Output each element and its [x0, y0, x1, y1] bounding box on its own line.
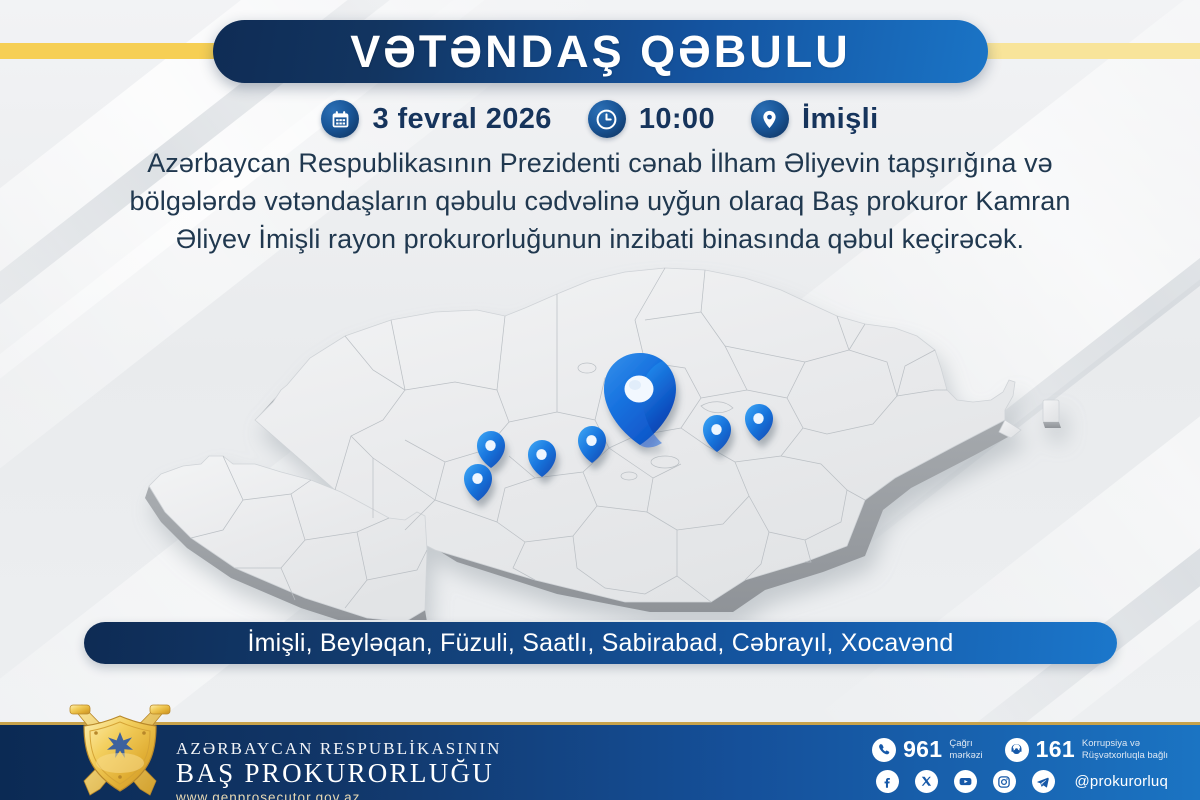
event-info-row: 3 fevral 2026 10:00 İmişli	[0, 100, 1200, 138]
facebook-icon[interactable]	[876, 770, 899, 793]
event-date: 3 fevral 2026	[321, 100, 551, 138]
page-title: VƏTƏNDAŞ QƏBULU	[350, 26, 851, 78]
poster-canvas: VƏTƏNDAŞ QƏBULU 3 fevral 2026	[0, 0, 1200, 800]
anticorruption-contact[interactable]: 161 Korrupsiya və Rüşvətxorluqla bağlı	[1005, 736, 1168, 763]
accent-bar-right	[968, 43, 1200, 59]
location-pin-icon	[751, 100, 789, 138]
event-location-value: İmişli	[802, 103, 879, 136]
calendar-icon	[321, 100, 359, 138]
phone-icon	[872, 738, 896, 762]
call-center-number: 961	[903, 736, 942, 763]
social-links-row: @prokurorluq	[876, 770, 1169, 793]
event-time-value: 10:00	[639, 103, 715, 136]
social-handle[interactable]: @prokurorluq	[1075, 773, 1169, 790]
call-center-contact[interactable]: 961 Çağrı mərkəzi	[872, 736, 983, 763]
youtube-icon[interactable]	[954, 770, 977, 793]
prosecutor-general-emblem	[58, 703, 182, 800]
instagram-icon[interactable]	[993, 770, 1016, 793]
org-website-url[interactable]: www.genprosecutor.gov.az	[176, 790, 502, 800]
lead-paragraph: Azərbaycan Respublikasının Prezidenti cə…	[95, 145, 1105, 258]
call-center-caption: Çağrı mərkəzi	[949, 738, 982, 760]
regions-list: İmişli, Beyləqan, Füzuli, Saatlı, Sabira…	[247, 629, 953, 658]
hotline-icon	[1005, 738, 1029, 762]
title-pill: VƏTƏNDAŞ QƏBULU	[213, 20, 988, 83]
event-date-value: 3 fevral 2026	[372, 103, 551, 136]
clock-icon	[588, 100, 626, 138]
organization-block: AZƏRBAYCAN RESPUBLİKASININ BAŞ PROKURORL…	[176, 739, 502, 800]
regions-banner: İmişli, Beyləqan, Füzuli, Saatlı, Sabira…	[84, 622, 1117, 664]
x-twitter-icon[interactable]	[915, 770, 938, 793]
anticorruption-number: 161	[1036, 736, 1075, 763]
contact-row: 961 Çağrı mərkəzi 161 Korrupsiya və Rüşv…	[872, 736, 1168, 763]
org-name-line1: AZƏRBAYCAN RESPUBLİKASININ	[176, 739, 502, 759]
azerbaijan-map	[105, 250, 1105, 620]
telegram-icon[interactable]	[1032, 770, 1055, 793]
event-location: İmişli	[751, 100, 879, 138]
event-time: 10:00	[588, 100, 715, 138]
footer-bar: AZƏRBAYCAN RESPUBLİKASININ BAŞ PROKURORL…	[0, 722, 1200, 800]
accent-bar-left	[0, 43, 232, 59]
anticorruption-caption: Korrupsiya və Rüşvətxorluqla bağlı	[1082, 738, 1168, 760]
org-name-line2: BAŞ PROKURORLUĞU	[176, 758, 502, 789]
